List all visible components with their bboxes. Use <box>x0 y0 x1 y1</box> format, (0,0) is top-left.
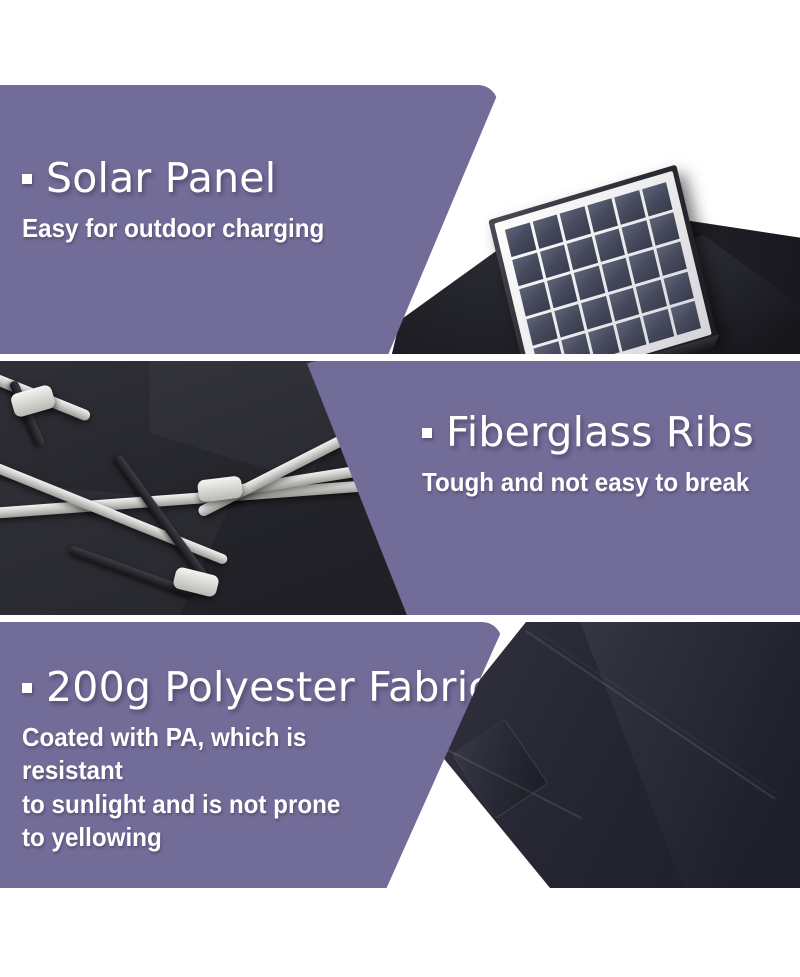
feature-title-polyester-fabric: 200g Polyester Fabric <box>22 666 462 709</box>
feature-subtitle-fiberglass-ribs: Tough and not easy to break <box>422 466 757 499</box>
product-feature-infographic: Solar Panel Easy for outdoor charging <box>0 0 800 977</box>
feature-section-solar-panel: Solar Panel Easy for outdoor charging <box>0 85 800 354</box>
callout-text-solar-panel: Solar Panel Easy for outdoor charging <box>22 157 458 245</box>
feature-subtitle-polyester-fabric: Coated with PA, which is resistant to su… <box>22 721 403 854</box>
feature-title-label: Fiberglass Ribs <box>446 411 754 454</box>
square-bullet-icon <box>22 174 32 184</box>
feature-title-solar-panel: Solar Panel <box>22 157 458 200</box>
square-bullet-icon <box>22 683 32 693</box>
callout-text-polyester-fabric: 200g Polyester Fabric Coated with PA, wh… <box>22 666 462 854</box>
callout-text-fiberglass-ribs: Fiberglass Ribs Tough and not easy to br… <box>422 411 782 499</box>
solar-panel-frame <box>488 165 718 354</box>
feature-title-label: 200g Polyester Fabric <box>46 666 491 709</box>
feature-title-fiberglass-ribs: Fiberglass Ribs <box>422 411 782 454</box>
solar-panel-object <box>488 165 718 354</box>
feature-section-fiberglass-ribs: Fiberglass Ribs Tough and not easy to br… <box>0 361 800 615</box>
solar-panel-cell-grid <box>505 182 701 354</box>
feature-title-label: Solar Panel <box>46 157 276 200</box>
feature-section-polyester-fabric: 200g Polyester Fabric Coated with PA, wh… <box>0 622 800 888</box>
square-bullet-icon <box>422 428 432 438</box>
feature-subtitle-solar-panel: Easy for outdoor charging <box>22 212 427 245</box>
